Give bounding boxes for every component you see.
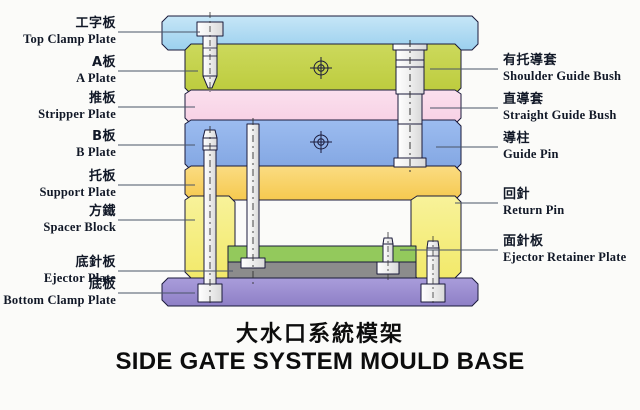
title-block-en: SIDE GATE SYSTEM MOULD BASE	[0, 348, 640, 376]
plate-support	[185, 166, 461, 200]
label-top-clamp-plate: 工字板 Top Clamp Plate	[23, 17, 116, 46]
label-cn: 底針板	[44, 256, 116, 271]
label-cn: 推板	[38, 92, 116, 107]
label-cn: 導柱	[503, 132, 559, 147]
label-en: Guide Pin	[503, 147, 559, 161]
diagram-canvas: 工字板 Top Clamp Plate A板 A Plate 推板 Stripp…	[0, 0, 640, 410]
label-cn: 直導套	[503, 93, 617, 108]
label-cn: 面針板	[503, 235, 626, 250]
label-cn: A板	[76, 56, 116, 71]
label-en: B Plate	[76, 145, 116, 159]
label-en: Stripper Plate	[38, 107, 116, 121]
label-spacer-block: 方鐵 Spacer Block	[43, 205, 116, 234]
label-cn: 回針	[503, 188, 564, 203]
label-straight-guide-bush: 直導套 Straight Guide Bush	[503, 93, 617, 122]
label-en: Top Clamp Plate	[23, 32, 116, 46]
label-cn: B板	[76, 130, 116, 145]
label-en: Shoulder Guide Bush	[503, 69, 621, 83]
label-en: Return Pin	[503, 203, 564, 217]
label-shoulder-guide-bush: 有托導套 Shoulder Guide Bush	[503, 54, 621, 83]
title-english: SIDE GATE SYSTEM MOULD BASE	[0, 348, 640, 376]
label-guide-pin: 導柱 Guide Pin	[503, 132, 559, 161]
label-a-plate: A板 A Plate	[76, 56, 116, 85]
label-en: Support Plate	[39, 185, 116, 199]
title-chinese: 大水口系統模架	[0, 316, 640, 348]
label-en: Bottom Clamp Plate	[3, 293, 116, 307]
label-stripper-plate: 推板 Stripper Plate	[38, 92, 116, 121]
label-cn: 底板	[3, 278, 116, 293]
label-cn: 有托導套	[503, 54, 621, 69]
label-en: Straight Guide Bush	[503, 108, 617, 122]
label-return-pin: 回針 Return Pin	[503, 188, 564, 217]
label-en: A Plate	[76, 71, 116, 85]
label-bottom-clamp-plate: 底板 Bottom Clamp Plate	[3, 278, 116, 307]
title-block: 大水口系統模架	[0, 316, 640, 348]
label-cn: 方鐵	[43, 205, 116, 220]
label-cn: 工字板	[23, 17, 116, 32]
label-b-plate: B板 B Plate	[76, 130, 116, 159]
label-en: Spacer Block	[43, 220, 116, 234]
label-ejector-retainer-plate: 面針板 Ejector Retainer Plate	[503, 235, 626, 264]
label-support-plate: 托板 Support Plate	[39, 170, 116, 199]
label-en: Ejector Retainer Plate	[503, 250, 626, 264]
label-cn: 托板	[39, 170, 116, 185]
